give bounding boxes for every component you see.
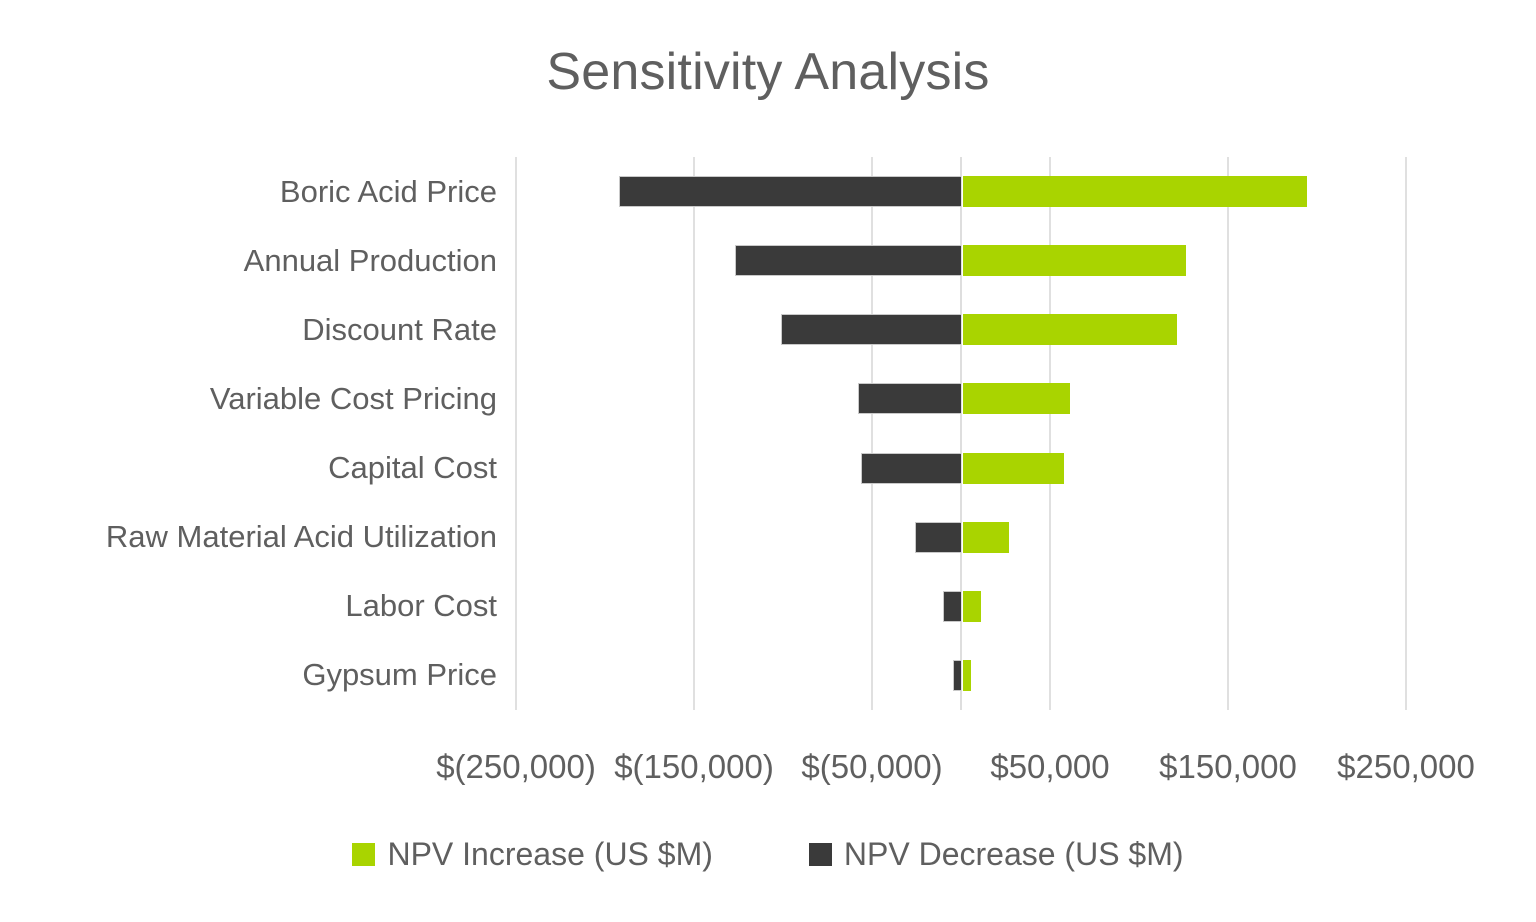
bar-npv-decrease <box>735 245 961 276</box>
bar-row <box>517 503 1406 572</box>
bar-npv-decrease <box>619 176 961 207</box>
bar-row <box>517 434 1406 503</box>
bar-npv-increase <box>963 660 971 691</box>
bar-npv-increase <box>963 522 1009 553</box>
bar-row <box>517 157 1406 226</box>
sensitivity-analysis-chart: Sensitivity Analysis Boric Acid PriceAnn… <box>0 0 1536 922</box>
bar-npv-decrease <box>781 314 961 345</box>
bar-npv-increase <box>963 245 1186 276</box>
chart-legend: NPV Increase (US $M)NPV Decrease (US $M) <box>0 836 1536 873</box>
category-label: Gypsum Price <box>0 657 497 693</box>
legend-label: NPV Decrease (US $M) <box>844 836 1184 873</box>
plot-area <box>517 157 1406 710</box>
bar-npv-decrease <box>915 522 961 553</box>
category-label: Discount Rate <box>0 312 497 348</box>
bar-npv-decrease <box>953 660 961 691</box>
category-label: Boric Acid Price <box>0 174 497 210</box>
bar-row <box>517 295 1406 364</box>
bar-npv-increase <box>963 453 1064 484</box>
value-axis-tick-label: $(50,000) <box>801 748 942 786</box>
bar-npv-decrease <box>861 453 961 484</box>
bar-npv-increase <box>963 591 981 622</box>
bar-npv-increase <box>963 176 1307 207</box>
bar-rows <box>517 157 1406 710</box>
category-label: Raw Material Acid Utilization <box>0 519 497 555</box>
chart-title: Sensitivity Analysis <box>0 42 1536 102</box>
legend-item[interactable]: NPV Increase (US $M) <box>352 836 712 873</box>
bar-npv-decrease <box>858 383 961 414</box>
legend-swatch-increase-icon <box>352 843 375 866</box>
category-label: Capital Cost <box>0 450 497 486</box>
bar-npv-increase <box>963 383 1070 414</box>
legend-swatch-decrease-icon <box>809 843 832 866</box>
bar-row <box>517 641 1406 710</box>
legend-item[interactable]: NPV Decrease (US $M) <box>809 836 1184 873</box>
bar-npv-decrease <box>943 591 961 622</box>
bar-npv-increase <box>963 314 1177 345</box>
value-axis-tick-label: $(250,000) <box>436 748 596 786</box>
bar-row <box>517 364 1406 433</box>
legend-label: NPV Increase (US $M) <box>387 836 712 873</box>
category-label: Variable Cost Pricing <box>0 381 497 417</box>
bar-row <box>517 226 1406 295</box>
category-axis: Boric Acid PriceAnnual ProductionDiscoun… <box>0 157 497 710</box>
value-axis-tick-label: $(150,000) <box>614 748 774 786</box>
category-label: Labor Cost <box>0 588 497 624</box>
value-axis-tick-label: $50,000 <box>990 748 1109 786</box>
value-axis-tick-label: $150,000 <box>1159 748 1297 786</box>
category-label: Annual Production <box>0 243 497 279</box>
value-axis-labels: $(250,000)$(150,000)$(50,000)$50,000$150… <box>0 748 1536 798</box>
bar-row <box>517 572 1406 641</box>
value-axis-tick-label: $250,000 <box>1337 748 1475 786</box>
